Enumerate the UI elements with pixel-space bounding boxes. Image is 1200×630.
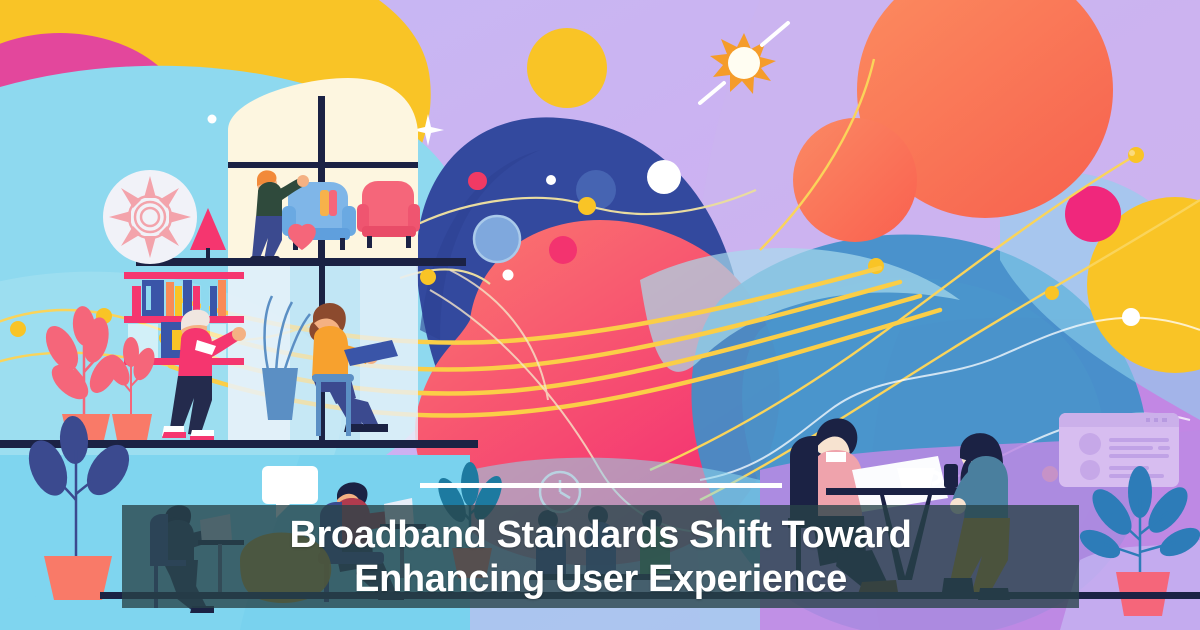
banner-image: Broadband Standards Shift Toward Enhanci… <box>0 0 1200 630</box>
potted-plant-left-2 <box>102 337 159 440</box>
headline-line-1: Broadband Standards Shift Toward <box>290 513 912 557</box>
upper-room <box>103 78 466 266</box>
browser-window-card <box>1059 413 1179 487</box>
headline-overlay: Broadband Standards Shift Toward Enhanci… <box>122 505 1079 608</box>
headline-line-2: Enhancing User Experience <box>354 557 847 601</box>
title-divider-line <box>420 483 782 488</box>
sunburst-mandala-decoration <box>103 170 197 264</box>
